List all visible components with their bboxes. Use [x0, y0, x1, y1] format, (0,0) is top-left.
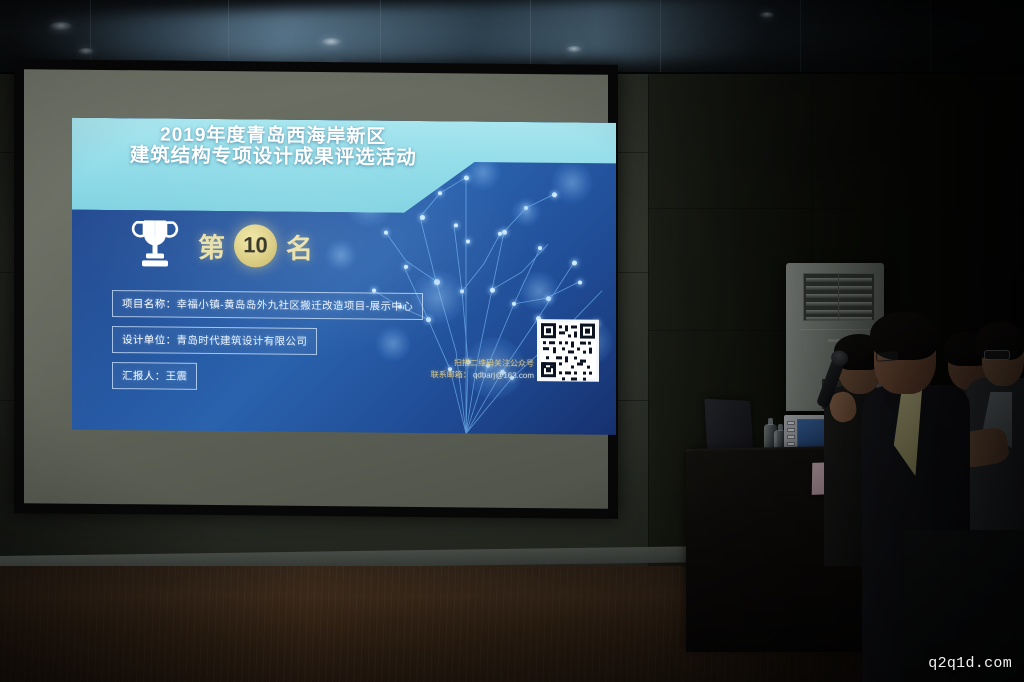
info-value-presenter: 王震 — [166, 371, 188, 383]
info-row-presenter: 汇报人：王震 — [112, 362, 197, 390]
rank-row: 第 10 名 — [130, 216, 313, 274]
rank-badge: 10 — [234, 224, 277, 267]
presentation-slide: 2019年度青岛西海岸新区 建筑结构专项设计成果评选活动 — [72, 118, 616, 435]
info-label-design-unit: 设计单位： — [122, 334, 177, 347]
rank-suffix: 名 — [286, 226, 313, 265]
presenter-glasses — [876, 351, 899, 362]
slide-title: 2019年度青岛西海岸新区 建筑结构专项设计成果评选活动 — [72, 124, 475, 171]
qr-code-icon — [537, 319, 599, 382]
rank-text: 第 10 名 — [198, 223, 313, 267]
conference-room-scene: 2019年度青岛西海岸新区 建筑结构专项设计成果评选活动 — [0, 0, 1024, 682]
info-value-design-unit: 青岛时代建筑设计有限公司 — [177, 335, 308, 348]
info-value-project: 幸福小镇-黄岛岛外九社区搬迁改造项目-展示中心 — [177, 299, 414, 313]
contact-line1: 扫描二维码关注公众号 — [431, 357, 534, 370]
projection-screen: 2019年度青岛西海岸新区 建筑结构专项设计成果评选活动 — [14, 59, 618, 519]
info-label-presenter: 汇报人： — [122, 370, 166, 382]
info-label-project: 项目名称： — [122, 298, 177, 311]
slide-contact-info: 扫描二维码关注公众号 联系邮箱： qdbarj@163.com — [431, 357, 534, 382]
info-row-design-unit: 设计单位：青岛时代建筑设计有限公司 — [112, 326, 317, 355]
rank-prefix: 第 — [198, 225, 225, 264]
audience-member-2-glasses — [984, 350, 1010, 360]
slide-title-line2: 建筑结构专项设计成果评选活动 — [72, 145, 475, 171]
watermark: q2q1d.com — [928, 655, 1012, 672]
contact-email-label: 联系邮箱： — [431, 370, 471, 379]
contact-email-value: qdbarj@163.com — [473, 371, 534, 381]
ac-vent-icon — [803, 273, 875, 321]
screen-surface: 2019年度青岛西海岸新区 建筑结构专项设计成果评选活动 — [24, 69, 608, 509]
slide-info-list: 项目名称：幸福小镇-黄岛岛外九社区搬迁改造项目-展示中心 设计单位：青岛时代建筑… — [112, 290, 423, 401]
info-row-project: 项目名称：幸福小镇-黄岛岛外九社区搬迁改造项目-展示中心 — [112, 290, 423, 320]
trophy-icon — [130, 216, 180, 272]
